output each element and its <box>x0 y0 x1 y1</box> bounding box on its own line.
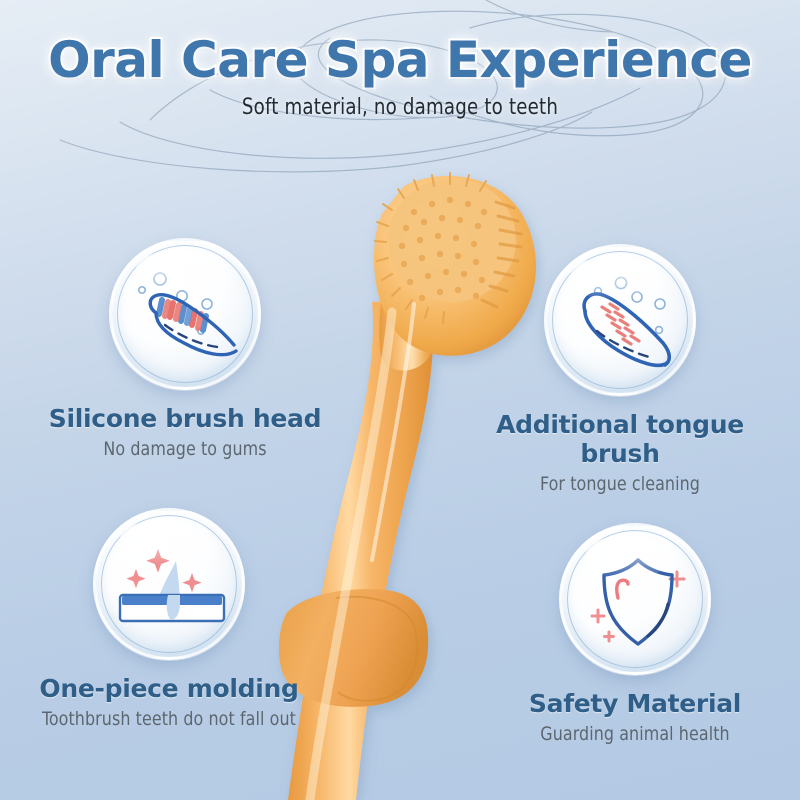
feature-title: Safety Material <box>470 689 800 718</box>
tongue-brush-icon <box>544 244 696 396</box>
feature-subtitle: No damage to gums <box>32 438 339 460</box>
page-subtitle: Soft material, no damage to teeth <box>32 95 768 120</box>
feature-silicone-brush-head: Silicone brush head No damage to gums <box>20 238 350 460</box>
feature-subtitle: Guarding animal health <box>482 723 789 745</box>
feature-title: Additional tongue brush <box>455 410 785 468</box>
toothbrush-head-icon <box>109 238 261 390</box>
feature-safety-material: Safety Material Guarding animal health <box>470 523 800 745</box>
feature-additional-tongue-brush: Additional tongue brush For tongue clean… <box>455 244 785 495</box>
title-block: Oral Care Spa Experience Soft material, … <box>0 34 800 120</box>
feature-one-piece-molding: One-piece molding Toothbrush teeth do no… <box>4 508 334 730</box>
page-title: Oral Care Spa Experience <box>0 34 800 87</box>
feature-title: Silicone brush head <box>20 404 350 433</box>
feature-subtitle: Toothbrush teeth do not fall out <box>16 708 323 730</box>
shield-icon <box>559 523 711 675</box>
product-poster: Oral Care Spa Experience Soft material, … <box>0 0 800 800</box>
feature-title: One-piece molding <box>4 674 334 703</box>
bristle-molding-icon <box>93 508 245 660</box>
feature-subtitle: For tongue cleaning <box>467 473 774 495</box>
